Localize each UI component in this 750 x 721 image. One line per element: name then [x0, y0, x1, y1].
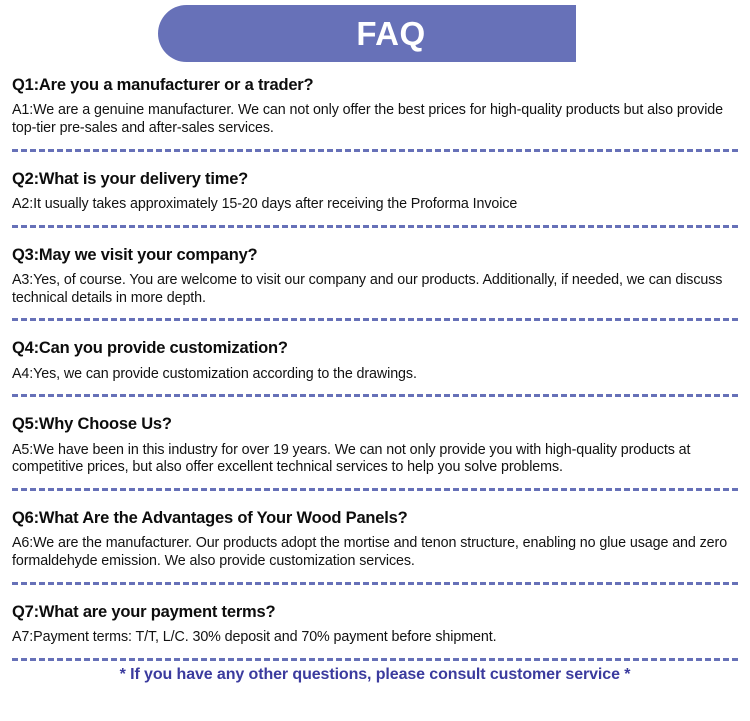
- faq-answer: A6:We are the manufacturer. Our products…: [12, 535, 738, 570]
- faq-answer: A7:Payment terms: T/T, L/C. 30% deposit …: [12, 629, 738, 647]
- faq-divider: [12, 394, 738, 397]
- faq-question: Q6:What Are the Advantages of Your Wood …: [12, 509, 738, 528]
- faq-list: Q1:Are you a manufacturer or a trader? A…: [12, 76, 738, 661]
- faq-item: Q2:What is your delivery time? A2:It usu…: [12, 170, 738, 228]
- faq-divider: [12, 582, 738, 585]
- faq-item: Q7:What are your payment terms? A7:Payme…: [12, 603, 738, 661]
- faq-answer: A2:It usually takes approximately 15-20 …: [12, 196, 738, 214]
- faq-page: FAQ Q1:Are you a manufacturer or a trade…: [0, 0, 750, 721]
- faq-question: Q5:Why Choose Us?: [12, 415, 738, 434]
- faq-item: Q5:Why Choose Us? A5:We have been in thi…: [12, 415, 738, 491]
- faq-item: Q6:What Are the Advantages of Your Wood …: [12, 509, 738, 585]
- faq-divider: [12, 149, 738, 152]
- faq-item: Q3:May we visit your company? A3:Yes, of…: [12, 246, 738, 322]
- faq-question: Q7:What are your payment terms?: [12, 603, 738, 622]
- faq-header-banner: FAQ: [158, 5, 576, 62]
- faq-question: Q4:Can you provide customization?: [12, 339, 738, 358]
- faq-answer: A1:We are a genuine manufacturer. We can…: [12, 102, 738, 137]
- faq-question: Q2:What is your delivery time?: [12, 170, 738, 189]
- faq-question: Q3:May we visit your company?: [12, 246, 738, 265]
- faq-divider: [12, 225, 738, 228]
- faq-answer: A4:Yes, we can provide customization acc…: [12, 366, 738, 384]
- faq-divider: [12, 318, 738, 321]
- footer-note: * If you have any other questions, pleas…: [0, 666, 750, 684]
- page-title: FAQ: [356, 17, 425, 50]
- faq-divider: [12, 488, 738, 491]
- faq-question: Q1:Are you a manufacturer or a trader?: [12, 76, 738, 95]
- faq-divider: [12, 658, 738, 661]
- faq-item: Q4:Can you provide customization? A4:Yes…: [12, 339, 738, 397]
- faq-item: Q1:Are you a manufacturer or a trader? A…: [12, 76, 738, 152]
- faq-answer: A5:We have been in this industry for ove…: [12, 442, 738, 477]
- faq-answer: A3:Yes, of course. You are welcome to vi…: [12, 272, 738, 307]
